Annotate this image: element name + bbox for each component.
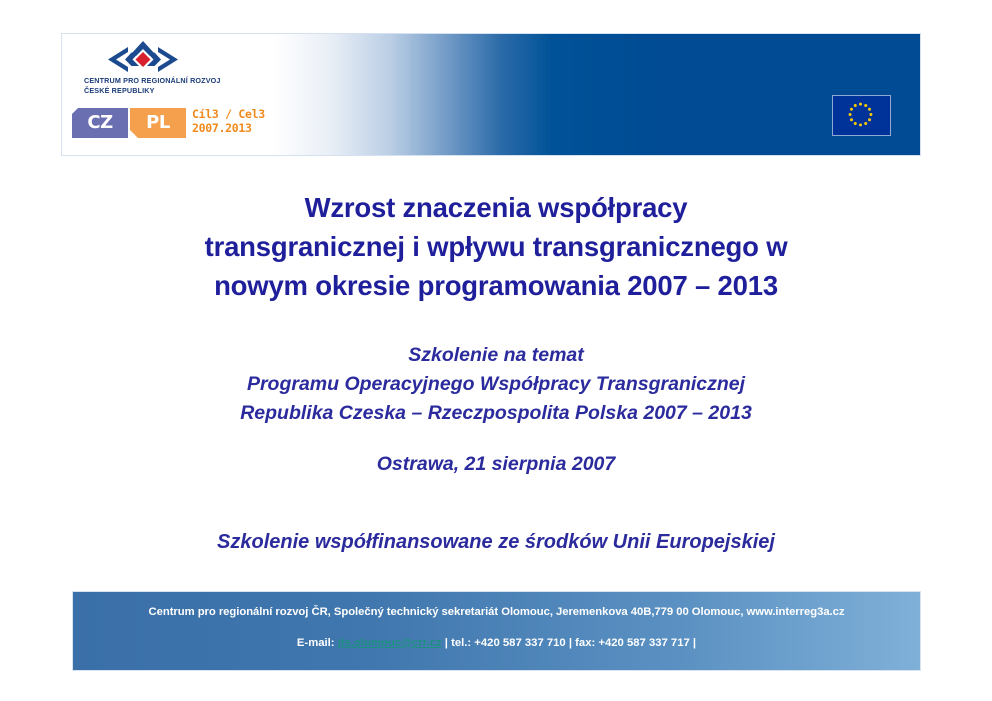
footer-email-label: E-mail:	[297, 637, 335, 649]
cz-badge-label: CZ	[72, 112, 128, 133]
programme-goal-line-2: 2007.2013	[192, 122, 265, 136]
event-place-date-text: Ostrawa, 21 sierpnia 2007	[60, 451, 932, 477]
programme-goal-text: Cíl3 / Cel3 2007.2013	[192, 108, 265, 135]
footer-banner: Centrum pro regionální rozvoj ČR, Společ…	[73, 592, 920, 670]
cz-badge: CZ	[72, 108, 128, 138]
slide-subtitle-line-2: Programu Operacyjnego Współpracy Transgr…	[60, 370, 932, 399]
funding-statement: Szkolenie współfinansowane ze środków Un…	[60, 529, 932, 556]
crr-diamond-arrow-mark-icon	[106, 40, 180, 76]
pl-badge: PL	[130, 108, 186, 138]
crr-caption-line-1: CENTRUM PRO REGIONÁLNÍ ROZVOJ	[84, 76, 259, 86]
event-place-date: Ostrawa, 21 sierpnia 2007	[60, 451, 932, 477]
footer-address-line: Centrum pro regionální rozvoj ČR, Společ…	[73, 606, 920, 618]
pl-badge-label: PL	[130, 112, 186, 133]
footer-email-link[interactable]: jts.olomouc@crr.cz	[338, 637, 442, 649]
crr-logo: CENTRUM PRO REGIONÁLNÍ ROZVOJ ČESKÉ REPU…	[84, 40, 259, 98]
presentation-slide: CENTRUM PRO REGIONÁLNÍ ROZVOJ ČESKÉ REPU…	[0, 0, 992, 701]
slide-title-line-1: Wzrost znaczenia współpracy	[60, 188, 932, 227]
slide-title-line-3: nowym okresie programowania 2007 – 2013	[60, 266, 932, 305]
cz-pl-programme-logo: CZ PL Cíl3 / Cel3 2007.2013	[72, 106, 287, 140]
footer-contact-line: E-mail: jts.olomouc@crr.cz | tel.: +420 …	[73, 637, 920, 649]
header-banner: CENTRUM PRO REGIONÁLNÍ ROZVOJ ČESKÉ REPU…	[62, 34, 920, 155]
slide-subtitle: Szkolenie na temat Programu Operacyjnego…	[60, 341, 932, 428]
slide-subtitle-line-1: Szkolenie na temat	[60, 341, 932, 370]
crr-caption-line-2: ČESKÉ REPUBLIKY	[84, 86, 259, 96]
european-union-flag-icon	[832, 95, 891, 136]
crr-logo-caption: CENTRUM PRO REGIONÁLNÍ ROZVOJ ČESKÉ REPU…	[84, 76, 259, 95]
footer-phone-fax-text: | tel.: +420 587 337 710 | fax: +420 587…	[445, 637, 696, 649]
programme-goal-line-1: Cíl3 / Cel3	[192, 108, 265, 122]
slide-subtitle-line-3: Republika Czeska – Rzeczpospolita Polska…	[60, 399, 932, 428]
slide-title: Wzrost znaczenia współpracy transgranicz…	[60, 188, 932, 305]
slide-title-line-2: transgranicznej i wpływu transgraniczneg…	[60, 227, 932, 266]
funding-statement-text: Szkolenie współfinansowane ze środków Un…	[60, 529, 932, 556]
